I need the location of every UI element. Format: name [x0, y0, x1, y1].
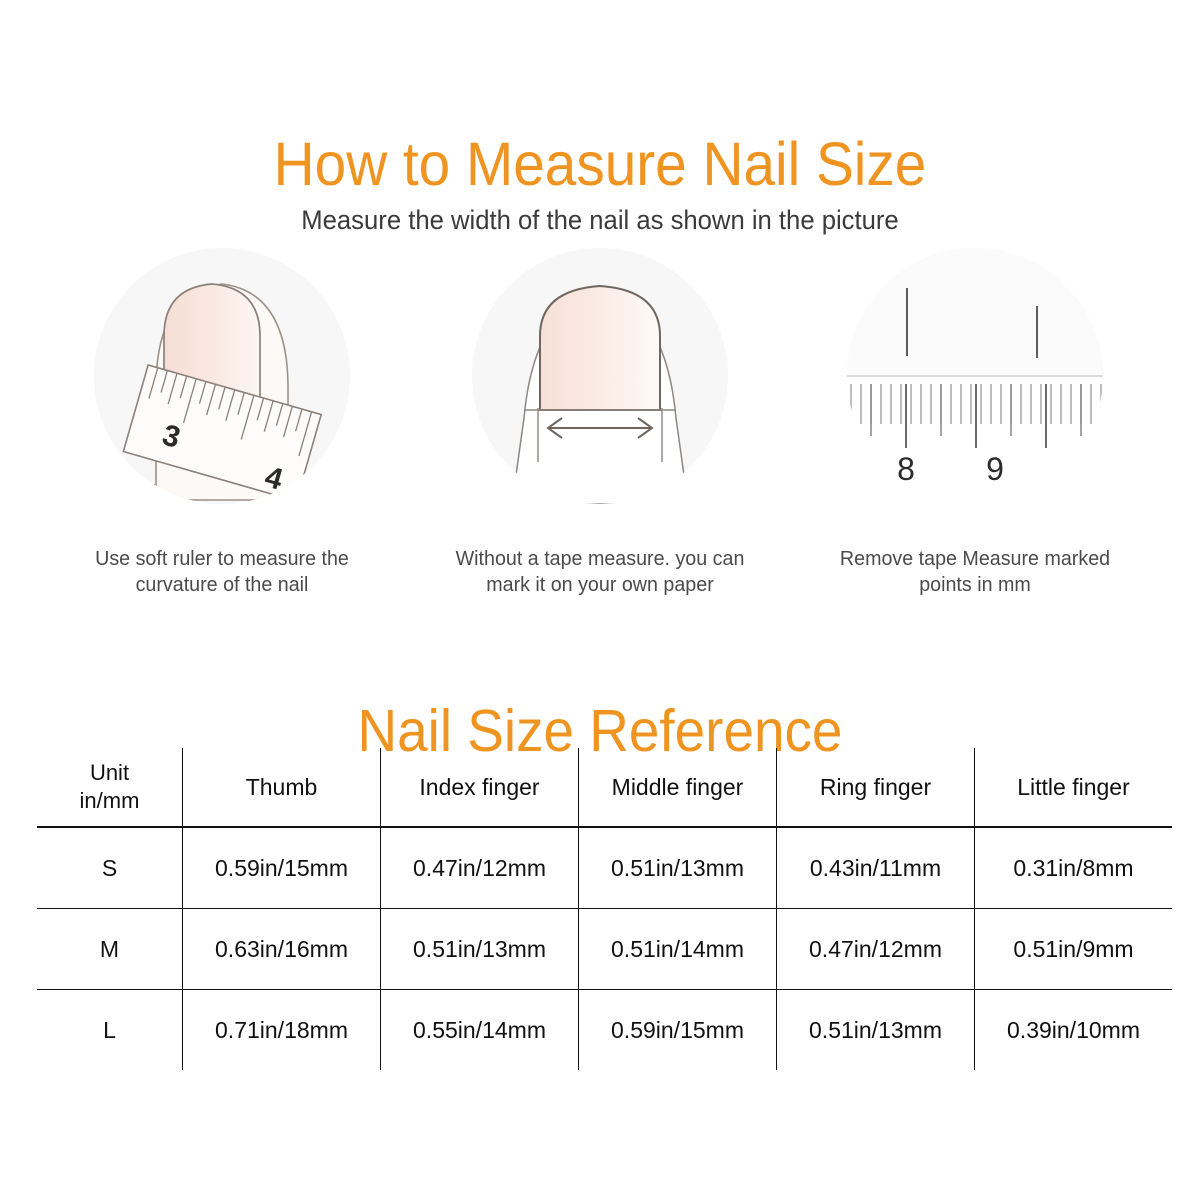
header-cell-unit: Unit in/mm	[36, 747, 183, 827]
header-cell-thumb: Thumb	[183, 747, 381, 827]
ruler-marked-points-icon: 8 9	[847, 248, 1103, 504]
cell-m-index: 0.51in/13mm	[381, 909, 579, 990]
table-row: M 0.63in/16mm 0.51in/13mm 0.51in/14mm 0.…	[36, 909, 1173, 990]
cell-s-ring: 0.43in/11mm	[777, 827, 975, 909]
header-cell-ring-finger: Ring finger	[777, 747, 975, 827]
page-title: How to Measure Nail Size	[42, 129, 1158, 199]
step-2: Without a tape measure. you can mark it …	[430, 248, 770, 608]
cell-l-thumb: 0.71in/18mm	[183, 990, 381, 1072]
ruler-label-9: 9	[986, 451, 1004, 487]
row-size-label: S	[36, 827, 183, 909]
table-row: L 0.71in/18mm 0.55in/14mm 0.59in/15mm 0.…	[36, 990, 1173, 1072]
step-1: 3 4 Use soft ruler to measure the curvat…	[52, 248, 392, 608]
table-header-row: Unit in/mm Thumb Index finger Middle fin…	[36, 747, 1173, 827]
page-subtitle: Measure the width of the nail as shown i…	[30, 203, 1170, 237]
cell-l-little: 0.39in/10mm	[975, 990, 1174, 1072]
cell-l-index: 0.55in/14mm	[381, 990, 579, 1072]
step-3-caption: Remove tape Measure marked points in mm	[812, 546, 1138, 598]
cell-m-ring: 0.47in/12mm	[777, 909, 975, 990]
table-row: S 0.59in/15mm 0.47in/12mm 0.51in/13mm 0.…	[36, 827, 1173, 909]
step-3: 8 9 Remove tape Measure marked points in…	[805, 248, 1145, 608]
cell-l-ring: 0.51in/13mm	[777, 990, 975, 1072]
header-cell-middle-finger: Middle finger	[579, 747, 777, 827]
cell-s-middle: 0.51in/13mm	[579, 827, 777, 909]
unit-label-line2: in/mm	[37, 787, 182, 815]
nail-width-arrow-icon	[472, 248, 728, 504]
steps-row: 3 4 Use soft ruler to measure the curvat…	[0, 248, 1200, 608]
cell-m-thumb: 0.63in/16mm	[183, 909, 381, 990]
unit-label-line1: Unit	[37, 759, 182, 787]
cell-s-little: 0.31in/8mm	[975, 827, 1174, 909]
cell-l-middle: 0.59in/15mm	[579, 990, 777, 1072]
cell-m-little: 0.51in/9mm	[975, 909, 1174, 990]
finger-with-soft-tape-icon: 3 4	[94, 248, 350, 504]
header-cell-little-finger: Little finger	[975, 747, 1174, 827]
row-size-label: M	[36, 909, 183, 990]
cell-s-thumb: 0.59in/15mm	[183, 827, 381, 909]
nail-size-reference-table: Unit in/mm Thumb Index finger Middle fin…	[35, 746, 1174, 1072]
header-cell-index-finger: Index finger	[381, 747, 579, 827]
step-2-caption: Without a tape measure. you can mark it …	[437, 546, 763, 598]
cell-s-index: 0.47in/12mm	[381, 827, 579, 909]
cell-m-middle: 0.51in/14mm	[579, 909, 777, 990]
ruler-label-8: 8	[897, 451, 915, 487]
row-size-label: L	[36, 990, 183, 1072]
step-1-caption: Use soft ruler to measure the curvature …	[59, 546, 385, 598]
